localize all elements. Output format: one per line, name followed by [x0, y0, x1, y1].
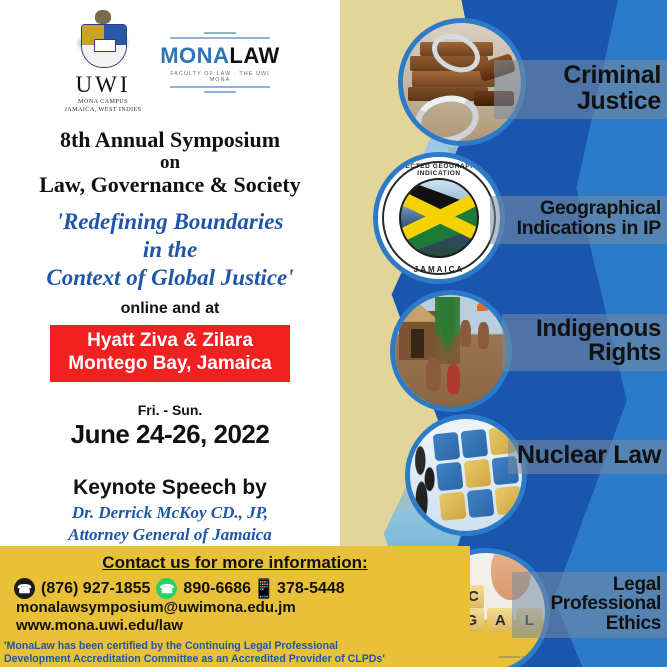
page-title: 8th Annual Symposium on Law, Governance …	[0, 128, 340, 199]
topic-label-nuclear-law: Nuclear Law	[508, 440, 667, 474]
theme-line-1: 'Redefining Boundaries	[0, 208, 340, 236]
protected-geographical-indication-jamaica-badge: PROTECTED GEOGRAPHICAL INDICATION JAMAIC…	[378, 157, 500, 279]
stock-photo-credit: shutterstock.com · 18...	[499, 654, 541, 659]
phone-whatsapp[interactable]: 890-6686	[183, 580, 251, 598]
mobile-phone-icon: 📱	[257, 578, 271, 599]
hut-door	[411, 329, 424, 358]
monalaw-tagline: FACULTY OF LAW · THE UWI MONA	[160, 71, 280, 83]
monalaw-word-law: LAW	[229, 43, 279, 68]
indigenous-village-illustration	[395, 295, 507, 407]
logo-rule-lower	[170, 86, 271, 88]
uwi-crest-icon	[75, 12, 131, 70]
parrot-icon	[477, 302, 492, 311]
logo-rule-bottom	[204, 91, 235, 93]
title-line-3: Law, Governance & Society	[0, 173, 340, 198]
topic-label-legal-professional-ethics: Legal Professional Ethics	[512, 572, 667, 638]
uwi-wordmark: UWI	[60, 72, 146, 98]
block-a: A	[487, 608, 513, 632]
phone-cell[interactable]: 378-5448	[277, 580, 345, 598]
keynote-speaker: Dr. Derrick McKoy CD., JP, Attorney Gene…	[0, 502, 340, 546]
jigsaw-puzzle-legal-icons-photo	[410, 419, 522, 531]
theme-line-2: in the	[0, 236, 340, 264]
logo-rule-upper	[170, 37, 271, 39]
phone-icon: ☎	[14, 578, 35, 599]
uwi-sub-line2: JAMAICA, WEST INDIES	[60, 106, 146, 114]
venue-banner: Hyatt Ziva & Zilara Montego Bay, Jamaica	[50, 325, 290, 382]
title-line-2: on	[0, 152, 340, 173]
tree-shape	[435, 297, 460, 364]
event-days: Fri. - Sun.	[0, 402, 340, 418]
accreditation-disclaimer: 'MonaLaw has been certified by the Conti…	[0, 636, 470, 666]
topic-label-geographical-indications: Geographical Indications in IP	[490, 196, 667, 244]
event-date: June 24-26, 2022	[0, 419, 340, 450]
phone-row: ☎ (876) 927-1855 ☎ 890-6686 📱 378-5448	[0, 573, 470, 599]
venue-line-1: Hyatt Ziva & Zilara	[54, 330, 286, 352]
contact-heading: Contact us for more information:	[0, 546, 470, 573]
keynote-speaker-name: Dr. Derrick McKoy CD., JP,	[0, 502, 340, 524]
disclaimer-line-2: Development Accreditation Committee as a…	[4, 653, 464, 666]
contact-website[interactable]: www.mona.uwi.edu/law	[0, 617, 470, 635]
disclaimer-line-1: 'MonaLaw has been certified by the Conti…	[4, 640, 464, 653]
venue-line-2: Montego Bay, Jamaica	[54, 353, 286, 375]
uwi-sub-line1: MONA CAMPUS	[60, 98, 146, 106]
topic-label-indigenous-rights: Indigenous Rights	[502, 314, 667, 371]
poster-text-column: UWI MONA CAMPUS JAMAICA, WEST INDIES MON…	[0, 0, 340, 546]
monalaw-wordmark: MONALAW	[160, 43, 280, 69]
logo-rule-top	[204, 32, 235, 34]
uwi-logo: UWI MONA CAMPUS JAMAICA, WEST INDIES	[60, 12, 146, 114]
contact-footer: Contact us for more information: ☎ (876)…	[0, 546, 470, 667]
topic-image-nuclear-law	[405, 414, 527, 536]
attendance-mode: online and at	[0, 300, 340, 318]
phone-main[interactable]: (876) 927-1855	[41, 580, 150, 598]
theme-statement: 'Redefining Boundaries in the Context of…	[0, 208, 340, 292]
badge-inner-scene	[399, 178, 480, 259]
keynote-heading: Keynote Speech by	[0, 476, 340, 500]
badge-top-text: PROTECTED GEOGRAPHICAL INDICATION	[378, 163, 500, 177]
contact-email[interactable]: monalawsymposium@uwimona.edu.jm	[0, 599, 470, 617]
whatsapp-icon: ☎	[156, 578, 177, 599]
topic-label-criminal-justice: Criminal Justice	[494, 60, 667, 119]
monalaw-word-mona: MONA	[160, 43, 229, 68]
theme-line-3: Context of Global Justice'	[0, 264, 340, 292]
symposium-poster: PROTECTED GEOGRAPHICAL INDICATION JAMAIC…	[0, 0, 667, 667]
topic-image-indigenous-rights	[390, 290, 512, 412]
keynote-speaker-role: Attorney General of Jamaica	[0, 524, 340, 546]
logo-row: UWI MONA CAMPUS JAMAICA, WEST INDIES MON…	[0, 0, 340, 114]
title-line-1: 8th Annual Symposium	[0, 128, 340, 153]
monalaw-logo: MONALAW FACULTY OF LAW · THE UWI MONA	[160, 32, 280, 93]
badge-bottom-text: JAMAICA	[378, 265, 500, 274]
topic-image-geographical-indications: PROTECTED GEOGRAPHICAL INDICATION JAMAIC…	[373, 152, 505, 284]
